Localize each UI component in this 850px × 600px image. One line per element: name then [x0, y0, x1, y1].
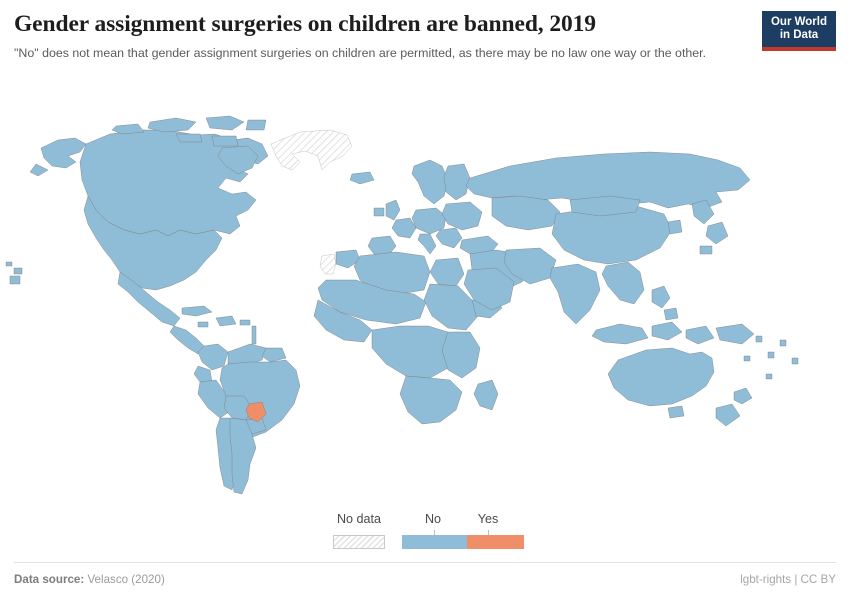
- country-central-asia[interactable]: [492, 196, 560, 230]
- country-balkans[interactable]: [436, 228, 462, 248]
- country-france[interactable]: [392, 218, 416, 238]
- country-greenland[interactable]: [271, 130, 352, 170]
- country-korea-japan[interactable]: [668, 200, 728, 254]
- footer-divider: [14, 562, 836, 563]
- country-ecuador[interactable]: [194, 366, 212, 382]
- country-tasmania[interactable]: [668, 406, 684, 418]
- country-hawaii[interactable]: [6, 262, 22, 284]
- country-italy[interactable]: [418, 234, 436, 254]
- legend-label-yes: Yes: [472, 512, 504, 526]
- country-canada[interactable]: [80, 130, 268, 236]
- country-scandinavia[interactable]: [412, 160, 448, 204]
- country-papua-new-guinea[interactable]: [716, 324, 754, 344]
- country-western-sahara[interactable]: [320, 254, 336, 274]
- chart-subtitle: "No" does not mean that gender assignmen…: [14, 44, 729, 63]
- page-title: Gender assignment surgeries on children …: [14, 10, 754, 38]
- world-map[interactable]: [0, 104, 850, 504]
- country-lesser-antilles[interactable]: [252, 326, 256, 344]
- country-india[interactable]: [550, 264, 600, 324]
- map-legend: No data No Yes: [0, 508, 850, 554]
- data-source-prefix: Data source:: [14, 573, 84, 586]
- legend-label-no: No: [418, 512, 448, 526]
- country-egypt[interactable]: [430, 258, 464, 286]
- country-philippines[interactable]: [652, 286, 678, 320]
- legend-label-no-data: No data: [333, 512, 385, 526]
- data-source-name: Velasco (2020): [87, 573, 164, 586]
- chart-root: Gender assignment surgeries on children …: [0, 0, 850, 600]
- logo-line-1: Our World: [771, 16, 827, 29]
- country-southern-africa[interactable]: [400, 376, 462, 424]
- country-united-kingdom[interactable]: [374, 200, 400, 220]
- country-australia[interactable]: [608, 348, 714, 406]
- country-poland-ukraine[interactable]: [442, 202, 482, 230]
- country-colombia[interactable]: [198, 344, 228, 370]
- country-central-america[interactable]: [170, 326, 204, 354]
- owid-logo[interactable]: Our World in Data: [762, 11, 836, 51]
- country-cuba[interactable]: [182, 306, 212, 316]
- country-madagascar[interactable]: [474, 380, 498, 410]
- logo-line-2: in Data: [780, 29, 818, 42]
- chart-header: Gender assignment surgeries on children …: [14, 10, 754, 63]
- legend-swatch-no-data[interactable]: [333, 535, 385, 549]
- country-finland-baltics[interactable]: [444, 164, 470, 200]
- country-jamaica[interactable]: [198, 322, 208, 327]
- country-pacific-islands[interactable]: [744, 336, 798, 379]
- legend-swatch-no[interactable]: [402, 535, 467, 549]
- country-hispaniola[interactable]: [216, 316, 236, 326]
- country-iceland[interactable]: [350, 172, 374, 184]
- chart-footer: Data source: Velasco (2020) lgbt-rights …: [14, 566, 836, 592]
- country-east-africa[interactable]: [442, 332, 480, 378]
- map-countries-layer: [6, 116, 798, 494]
- country-guyanas[interactable]: [262, 348, 286, 362]
- country-indonesia[interactable]: [592, 322, 714, 344]
- world-map-svg[interactable]: [0, 104, 850, 504]
- country-alaska[interactable]: [30, 138, 86, 176]
- slug-license[interactable]: lgbt-rights | CC BY: [740, 573, 836, 586]
- legend-swatch-yes[interactable]: [467, 535, 524, 549]
- country-southeast-asia[interactable]: [602, 262, 644, 304]
- country-puerto-rico[interactable]: [240, 320, 250, 325]
- data-source: Data source: Velasco (2020): [14, 573, 165, 586]
- country-new-zealand[interactable]: [716, 388, 752, 426]
